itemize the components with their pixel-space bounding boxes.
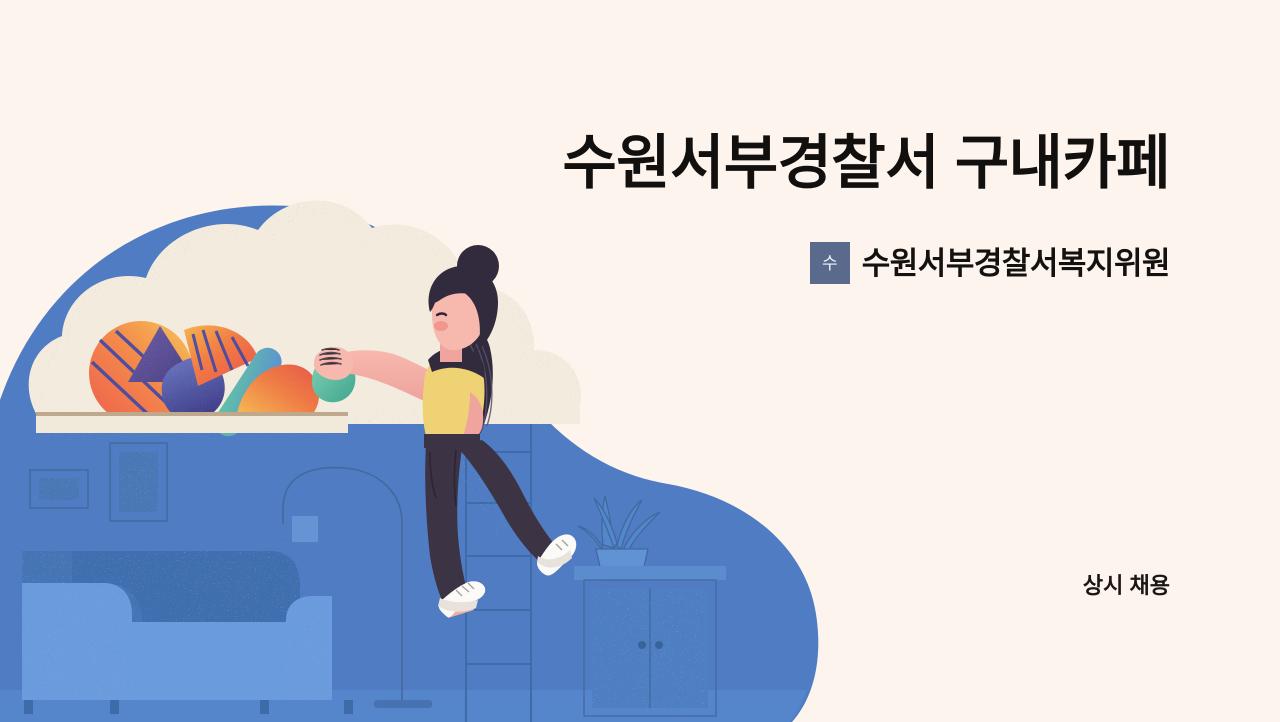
lamp-glow [266, 516, 318, 546]
object-blob-orange [236, 365, 319, 422]
company-logo-badge: 수 [810, 242, 850, 284]
sofa [22, 551, 353, 714]
object-triangle [120, 326, 196, 390]
object-capsule [209, 342, 287, 441]
company-name: 수원서부경찰서복지위원 [862, 248, 1170, 279]
company-row: 수 수원서부경찰서복지위원 [810, 242, 1170, 284]
object-blob-green [312, 356, 355, 402]
page-title: 수원서부경찰서 구내카페 [380, 130, 1170, 196]
wall-frame-small [30, 470, 88, 508]
object-half-disc [184, 325, 258, 386]
shelf-board [36, 412, 348, 433]
wall-frame-large [110, 443, 167, 521]
object-striped-circle [89, 321, 193, 425]
object-pentagon [162, 357, 225, 420]
poster-text: 수원서부경찰서 구내카페 수 수원서부경찰서복지위원 상시 채용 [380, 0, 1170, 722]
job-poster: 수원서부경찰서 구내카페 수 수원서부경찰서복지위원 상시 채용 [0, 0, 1280, 722]
shelf-shadow [38, 418, 348, 440]
shelf-objects [89, 321, 355, 442]
hiring-type-badge: 상시 채용 [1083, 575, 1170, 597]
